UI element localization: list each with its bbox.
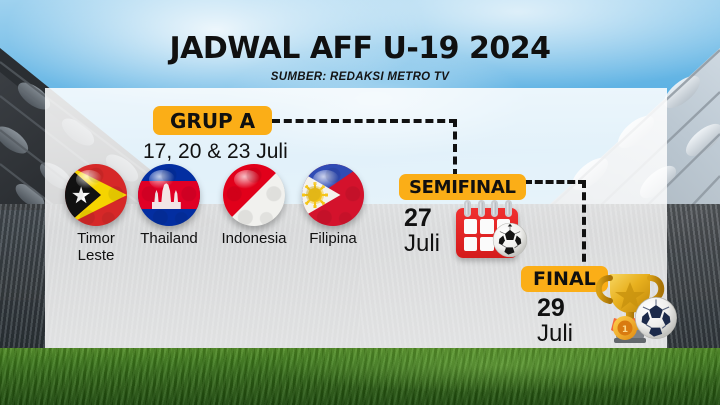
- soccer-ball-svg: [634, 296, 678, 340]
- team-thailand: Thailand: [131, 164, 207, 248]
- semifinal-badge: SEMIFINAL: [399, 174, 526, 200]
- source-subtitle: SUMBER: REDAKSI METRO TV: [0, 71, 720, 83]
- team-name-line1: Timor: [77, 230, 115, 247]
- indonesia-flag-ball: [223, 164, 285, 226]
- team-name-filipina: Filipina: [295, 231, 371, 248]
- soccer-ball-icon: [492, 222, 528, 258]
- team-indonesia: Indonesia: [216, 164, 292, 248]
- team-name-indonesia: Indonesia: [216, 231, 292, 248]
- group-a-badge: GRUP A: [153, 106, 272, 135]
- final-month: Juli: [537, 322, 573, 346]
- connector-group-to-semifinal-horizontal: [272, 119, 457, 123]
- connector-group-to-semifinal-vertical: [453, 119, 457, 177]
- team-name-thailand: Thailand: [131, 231, 207, 248]
- final-day: 29: [537, 296, 573, 322]
- svg-text:1: 1: [622, 325, 628, 335]
- cambodia-flag-ball: [138, 164, 200, 226]
- team-name-line2: Leste: [78, 247, 115, 264]
- semifinal-date: 27 Juli: [404, 206, 440, 256]
- group-a-dates: 17, 20 & 23 Juli: [143, 140, 288, 164]
- team-name-timor-leste: Timor Leste: [58, 231, 134, 265]
- soccer-ball-svg: [492, 222, 528, 258]
- soccer-ball-icon: [634, 296, 678, 340]
- infographic-canvas: JADWAL AFF U-19 2024 SUMBER: REDAKSI MET…: [0, 0, 720, 405]
- semifinal-month: Juli: [404, 232, 440, 256]
- connector-semifinal-to-final-horizontal: [524, 180, 586, 184]
- page-title: JADWAL AFF U-19 2024: [0, 34, 720, 64]
- title-block: JADWAL AFF U-19 2024 SUMBER: REDAKSI MET…: [0, 34, 720, 83]
- timor-leste-flag-ball: [65, 164, 127, 226]
- team-timor-leste: Timor Leste: [58, 164, 134, 265]
- philippines-flag-ball: [302, 164, 364, 226]
- semifinal-day: 27: [404, 206, 440, 232]
- final-date: 29 Juli: [537, 296, 573, 346]
- stadium-pitch-grass: [0, 348, 720, 405]
- team-filipina: Filipina: [295, 164, 371, 248]
- connector-semifinal-to-final-vertical: [582, 180, 586, 274]
